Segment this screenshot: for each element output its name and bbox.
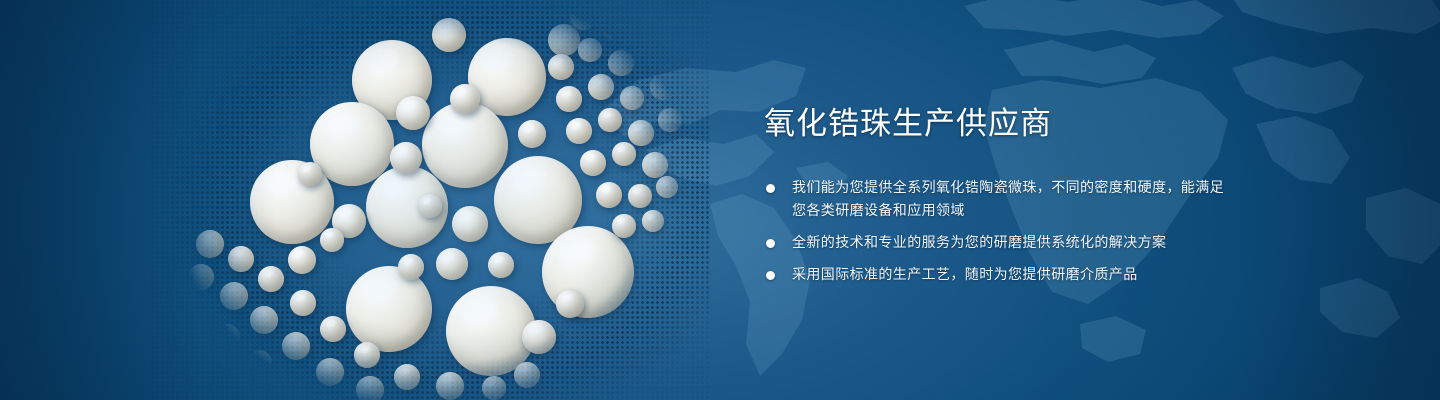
bead (418, 194, 442, 218)
bead (640, 40, 664, 64)
bead (658, 108, 682, 132)
bead (394, 364, 420, 390)
bullet-item: 采用国际标准的生产工艺，随时为您提供研磨介质产品 (764, 264, 1234, 287)
bead (246, 350, 272, 376)
banner-content: 氧化锆珠生产供应商 我们能为您提供全系列氧化锆陶瓷微珠，不同的密度和硬度，能满足… (764, 104, 1234, 287)
bullet-item: 我们能为您提供全系列氧化锆陶瓷微珠，不同的密度和硬度，能满足您各类研磨设备和应用… (764, 177, 1234, 223)
bead (656, 176, 678, 198)
bead (436, 248, 468, 280)
bead (432, 18, 466, 52)
hero-banner: 氧化锆珠生产供应商 我们能为您提供全系列氧化锆陶瓷微珠，不同的密度和硬度，能满足… (0, 0, 1440, 400)
bead (548, 24, 580, 56)
bead (632, 4, 658, 30)
bead (556, 86, 582, 112)
bead (628, 184, 652, 208)
bead (620, 86, 644, 110)
bullet-dot-icon (766, 239, 775, 248)
bead (436, 372, 464, 400)
zirconia-beads-photo (150, 0, 730, 400)
bead (396, 96, 430, 130)
bead (650, 74, 676, 100)
bead (288, 246, 316, 274)
bead (390, 142, 422, 174)
bead (556, 290, 584, 318)
bead (298, 162, 322, 186)
bead (602, 16, 626, 40)
bead (580, 150, 606, 176)
bead (356, 376, 384, 400)
bead (290, 290, 316, 316)
bead (258, 266, 284, 292)
bead (354, 342, 380, 368)
bead (316, 358, 344, 386)
bead (228, 246, 254, 272)
bead (250, 306, 278, 334)
bead (220, 282, 248, 310)
bead (188, 264, 214, 290)
bead (514, 362, 540, 388)
bead (570, 4, 596, 30)
bead (612, 142, 636, 166)
bead (642, 152, 668, 178)
bead (282, 332, 310, 360)
bead (196, 230, 224, 258)
bullet-text: 全新的技术和专业的服务为您的研磨提供系统化的解决方案 (792, 232, 1234, 255)
banner-bullet-list: 我们能为您提供全系列氧化锆陶瓷微珠，不同的密度和硬度，能满足您各类研磨设备和应用… (764, 177, 1234, 287)
bead (566, 118, 592, 144)
bead (588, 74, 614, 100)
bead (598, 108, 622, 132)
bead (522, 320, 556, 354)
bead (452, 206, 488, 242)
bullet-text: 采用国际标准的生产工艺，随时为您提供研磨介质产品 (792, 264, 1234, 287)
bead (488, 252, 514, 278)
bead (422, 102, 508, 188)
banner-headline: 氧化锆珠生产供应商 (764, 104, 1234, 144)
bead (548, 54, 574, 80)
bead (214, 324, 240, 350)
bead (320, 316, 346, 342)
bead (642, 210, 664, 232)
bullet-item: 全新的技术和专业的服务为您的研磨提供系统化的解决方案 (764, 232, 1234, 255)
bead (628, 120, 654, 146)
bead (596, 182, 622, 208)
bullet-dot-icon (766, 184, 775, 193)
bead (320, 228, 344, 252)
bead (346, 266, 432, 352)
bead (518, 120, 546, 148)
bullet-dot-icon (766, 271, 775, 280)
bead (450, 84, 480, 114)
bead (608, 50, 634, 76)
bead (612, 214, 636, 238)
bead (578, 38, 602, 62)
bullet-text: 我们能为您提供全系列氧化锆陶瓷微珠，不同的密度和硬度，能满足您各类研磨设备和应用… (792, 177, 1234, 223)
bead (482, 376, 506, 400)
bead (398, 254, 424, 280)
